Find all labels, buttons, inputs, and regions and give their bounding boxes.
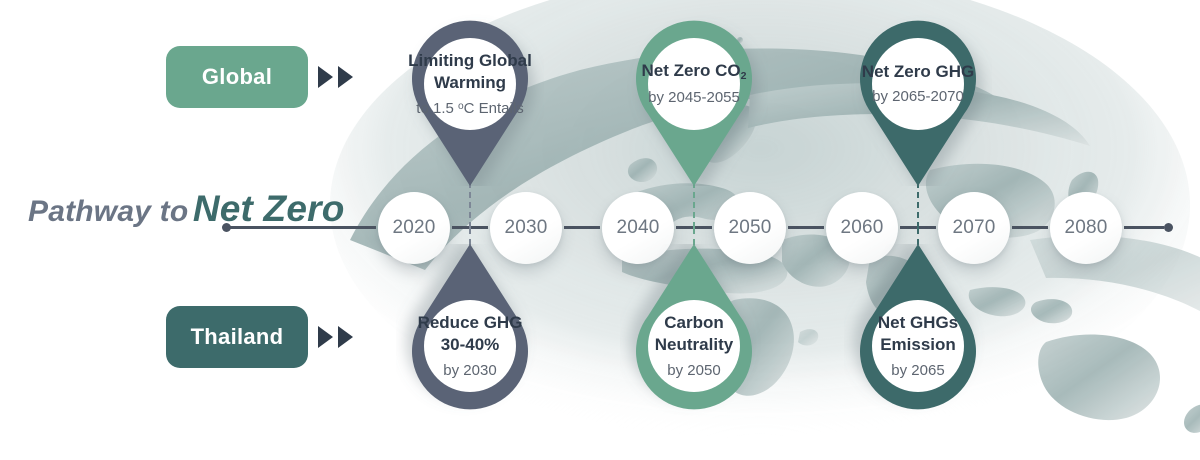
subscript-2: 2 [741, 70, 747, 82]
axis-end-dot [1164, 223, 1173, 232]
double-triangle-right-icon-global [318, 66, 353, 88]
pin-net-ghgs-emission[interactable]: Net GHGsEmissionby 2065 [844, 244, 992, 420]
timeline-axis [222, 226, 1172, 230]
pin-title-line-2: Warming [408, 72, 532, 94]
pin-carbon-neutrality[interactable]: CarbonNeutralityby 2050 [620, 244, 768, 420]
pin-title-line-2: 30-40% [418, 334, 523, 356]
year-label: 2050 [728, 217, 771, 239]
degree-symbol: o [458, 101, 464, 112]
triangle-right-icon [318, 326, 333, 348]
axis-segment [1012, 226, 1048, 229]
pin-label: Net Zero GHGby 2065-2070 [844, 28, 992, 140]
pin-label: CarbonNeutralityby 2050 [620, 290, 768, 402]
triangle-right-icon [338, 66, 353, 88]
badge-thailand-label: Thailand [191, 324, 284, 350]
year-label: 2080 [1064, 217, 1107, 239]
pin-subtitle: by 2045-2055 [648, 88, 740, 108]
pin-subtitle: by 2030 [443, 361, 496, 381]
infographic-canvas: Pathway to Net Zero Global Thailand 2020… [0, 0, 1200, 450]
pin-subtitle: by 2065-2070 [872, 87, 964, 107]
triangle-right-icon [338, 326, 353, 348]
year-label: 2030 [504, 217, 547, 239]
title-part-2: Net Zero [193, 188, 345, 229]
pin-limiting-global-warming[interactable]: Limiting GlobalWarmingto 1.5 oC Entails [396, 10, 544, 186]
pin-net-zero-co2[interactable]: Net Zero CO2by 2045-2055 [620, 10, 768, 186]
axis-segment [226, 226, 376, 229]
badge-global-label: Global [202, 64, 272, 90]
axis-segment [788, 226, 824, 229]
axis-segment [1124, 226, 1164, 229]
pin-label: Net Zero CO2by 2045-2055 [620, 28, 768, 140]
year-label: 2060 [840, 217, 883, 239]
badge-thailand[interactable]: Thailand [166, 306, 308, 368]
axis-segment [564, 226, 600, 229]
pin-label: Reduce GHG30-40%by 2030 [396, 290, 544, 402]
pin-title: Limiting GlobalWarming [408, 50, 532, 95]
pin-title: Net GHGsEmission [878, 312, 958, 357]
pin-subtitle: by 2065 [891, 361, 944, 381]
pin-net-zero-ghg[interactable]: Net Zero GHGby 2065-2070 [844, 10, 992, 186]
pin-label: Limiting GlobalWarmingto 1.5 oC Entails [396, 28, 544, 140]
pin-title-line-2: Emission [878, 334, 958, 356]
pin-title: Net Zero GHG [862, 61, 974, 83]
axis-end-dot [222, 223, 231, 232]
title-part-1: Pathway to [28, 195, 188, 228]
page-title: Pathway to Net Zero [28, 188, 345, 230]
pin-title: Net Zero CO2 [641, 60, 746, 84]
pin-label: Net GHGsEmissionby 2065 [844, 290, 992, 402]
pin-subtitle: by 2050 [667, 361, 720, 381]
year-label: 2070 [952, 217, 995, 239]
triangle-right-icon [318, 66, 333, 88]
pin-title: CarbonNeutrality [655, 312, 733, 357]
pin-subtitle: to 1.5 oC Entails [416, 99, 523, 119]
year-circle-2080[interactable]: 2080 [1050, 192, 1122, 264]
pin-title-line-2: Neutrality [655, 334, 733, 356]
double-triangle-right-icon-thailand [318, 326, 353, 348]
pin-title: Reduce GHG30-40% [418, 312, 523, 357]
year-label: 2040 [616, 217, 659, 239]
pin-reduce-ghg[interactable]: Reduce GHG30-40%by 2030 [396, 244, 544, 420]
year-label: 2020 [392, 217, 435, 239]
badge-global[interactable]: Global [166, 46, 308, 108]
